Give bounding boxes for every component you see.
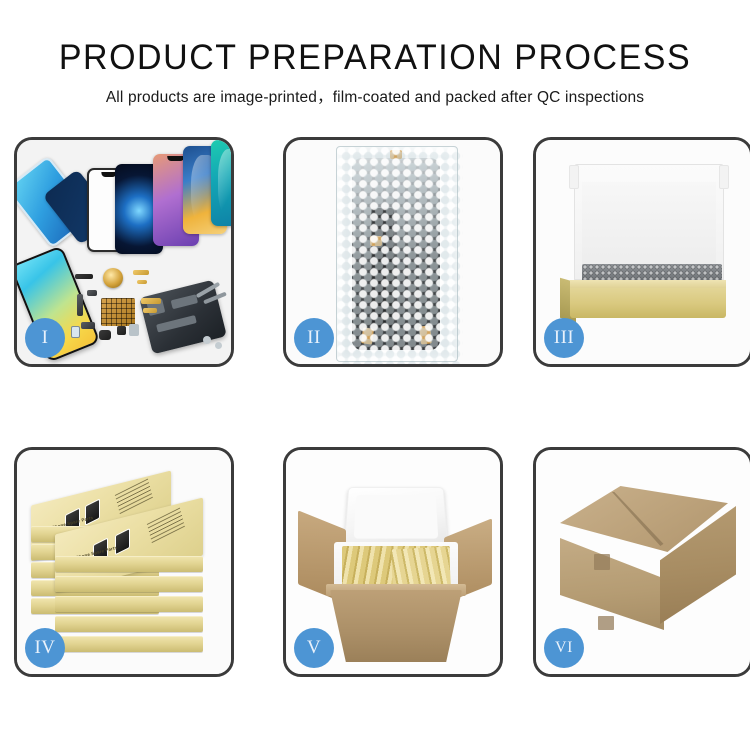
box-base-kraft xyxy=(570,286,726,318)
housing-part xyxy=(156,315,197,332)
step-badge-4: IV xyxy=(25,628,65,668)
step-badge-2: II xyxy=(294,318,334,358)
step-numeral: VI xyxy=(555,639,573,657)
step-badge-1: I xyxy=(25,318,65,358)
process-step-panel-5: V xyxy=(283,447,503,677)
screen-gloss xyxy=(218,149,234,218)
page-subtitle: All products are image-printed，film-coat… xyxy=(0,88,750,108)
small-part xyxy=(129,324,139,336)
box-edge xyxy=(55,556,203,572)
process-step-panel-6: VI xyxy=(533,447,750,677)
process-step-panel-4: Mobile Phone Spare Parts Mobile Phone Sp… xyxy=(14,447,234,677)
box-label-text-lines xyxy=(147,508,185,544)
box-label-text-lines xyxy=(115,479,153,515)
step-badge-5: V xyxy=(294,628,334,668)
box-edge xyxy=(55,636,203,652)
small-part xyxy=(117,326,126,335)
step-badge-6: VI xyxy=(544,628,584,668)
bag-seal-edge xyxy=(336,146,458,362)
connector-grid-chip xyxy=(101,298,135,326)
step-numeral: IV xyxy=(34,637,55,659)
housing-part xyxy=(171,294,198,309)
stacked-boxes-scene: Mobile Phone Spare Parts Mobile Phone Sp… xyxy=(17,450,231,674)
product-preparation-infographic: PRODUCT PREPARATION PROCESS All products… xyxy=(0,0,750,750)
small-part xyxy=(141,298,161,304)
small-part xyxy=(71,326,80,338)
phone-teal xyxy=(211,140,234,226)
flex-cable xyxy=(81,322,95,329)
small-part xyxy=(133,270,149,275)
header: PRODUCT PREPARATION PROCESS All products… xyxy=(0,38,750,108)
small-part xyxy=(143,308,157,313)
carton-tape-patch xyxy=(598,616,614,630)
process-step-grid: I II xyxy=(14,137,736,677)
carton-tape-patch xyxy=(594,554,610,570)
box-edge xyxy=(55,576,203,592)
process-step-panel-3: III xyxy=(533,137,750,367)
foam-cooler-lid xyxy=(344,487,449,550)
foam-cooler-carton-scene: V xyxy=(286,450,500,674)
page-title: PRODUCT PREPARATION PROCESS xyxy=(11,38,739,78)
step-numeral: V xyxy=(307,637,321,659)
flex-cable xyxy=(77,294,83,316)
phone-parts-scene: I xyxy=(17,140,231,364)
step-numeral: III xyxy=(554,327,574,349)
small-part xyxy=(75,274,93,279)
screw-part xyxy=(203,336,211,344)
box-edge xyxy=(55,616,203,632)
box-inner-wall xyxy=(582,182,716,268)
screw-part xyxy=(215,342,222,349)
sealed-carton-scene: VI xyxy=(536,450,750,674)
phone-rear-housing xyxy=(139,280,227,355)
step-numeral: I xyxy=(42,327,49,349)
step-badge-3: III xyxy=(544,318,584,358)
box-edge xyxy=(55,596,203,612)
bubble-wrap-scene: II xyxy=(286,140,500,364)
flex-cable xyxy=(87,290,97,296)
open-foam-box-scene: III xyxy=(536,140,750,364)
carton-body xyxy=(330,590,462,662)
step-numeral: II xyxy=(307,327,321,349)
box-label-phone-image xyxy=(85,498,100,525)
small-part xyxy=(137,280,147,284)
box-label-phone-image xyxy=(115,528,130,555)
small-part xyxy=(99,330,111,340)
speaker-coil-part xyxy=(103,268,123,288)
process-step-panel-2: II xyxy=(283,137,503,367)
process-step-panel-1: I xyxy=(14,137,234,367)
